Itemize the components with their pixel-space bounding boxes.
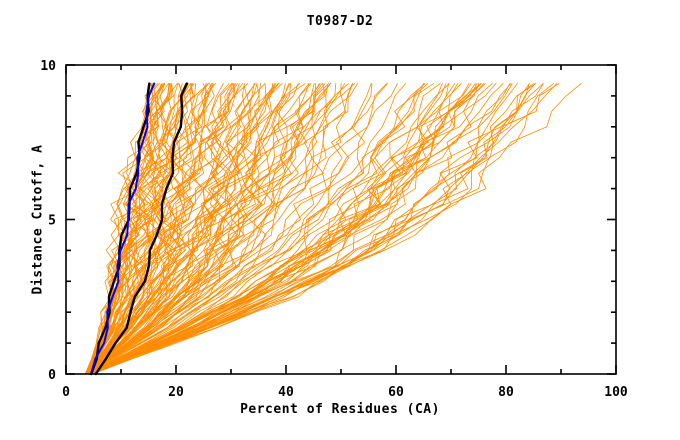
y-tick-label: 5	[48, 214, 56, 229]
x-tick-label: 100	[604, 385, 628, 400]
plot-figure: T0987-D2 0204060801000510 Percent of Res…	[0, 0, 680, 440]
x-tick-label: 0	[62, 385, 70, 400]
x-tick-label: 20	[168, 385, 184, 400]
x-tick-label: 60	[388, 385, 404, 400]
x-axis-label: Percent of Residues (CA)	[0, 402, 680, 417]
x-tick-label: 80	[498, 385, 514, 400]
plot-canvas: 0204060801000510	[0, 0, 680, 440]
y-tick-label: 10	[40, 59, 56, 74]
y-axis-label: Distance Cutoff, A	[31, 90, 46, 350]
y-tick-label: 0	[48, 368, 56, 383]
x-tick-label: 40	[278, 385, 294, 400]
plot-area	[85, 84, 581, 374]
